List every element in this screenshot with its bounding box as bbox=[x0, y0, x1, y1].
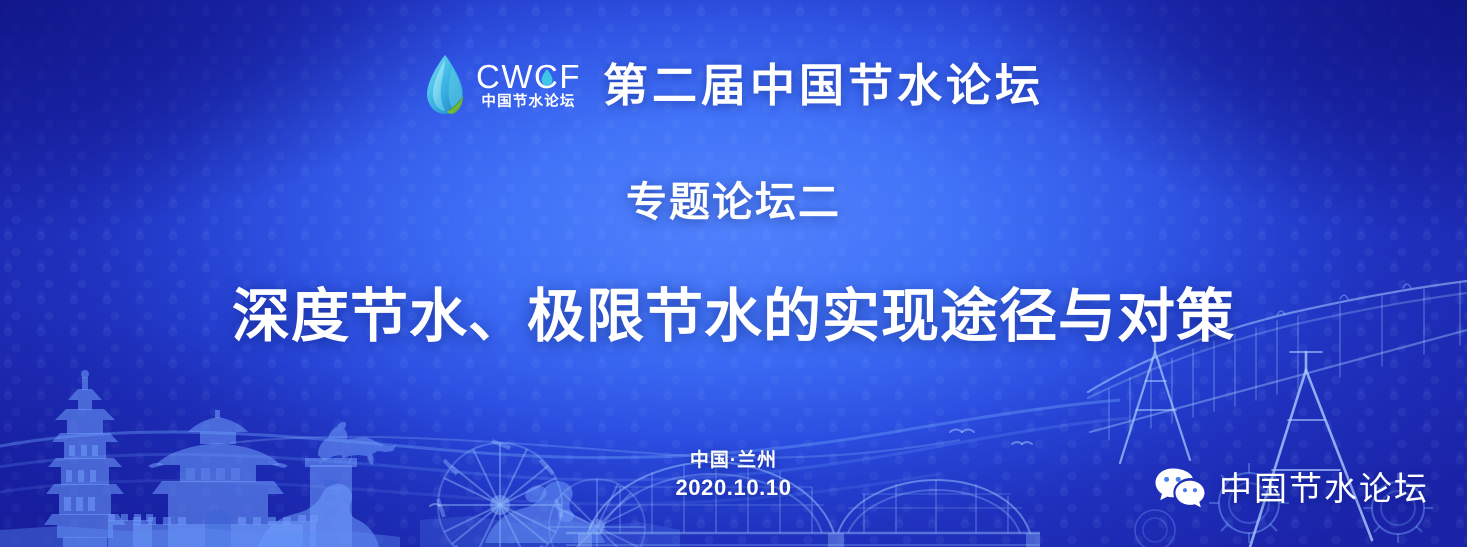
event-title: 第二届中国节水论坛 bbox=[603, 63, 1044, 108]
wechat-account-badge[interactable]: 中国节水论坛 bbox=[1154, 467, 1429, 509]
water-drop-leaf-icon bbox=[423, 54, 467, 116]
logo-subtitle: 中国节水论坛 bbox=[481, 95, 575, 110]
forum-session-label: 专题论坛二 bbox=[0, 182, 1467, 223]
logo-letter-c: C bbox=[476, 60, 501, 93]
logo-letter-c2: C bbox=[534, 60, 559, 93]
cwcf-logo: C W C F 中国节水论坛 bbox=[423, 54, 581, 116]
wechat-icon bbox=[1154, 467, 1206, 509]
wechat-account-name: 中国节水论坛 bbox=[1219, 472, 1429, 505]
water-drop-icon bbox=[540, 69, 553, 86]
logo-acronym: C W C F bbox=[476, 60, 581, 93]
logo-letter-f: F bbox=[559, 60, 581, 93]
forum-headline: 深度节水、极限节水的实现途径与对策 bbox=[0, 288, 1467, 346]
banner-header: C W C F 中国节水论坛 第二届中国节水论坛 bbox=[0, 54, 1467, 116]
conference-banner: C W C F 中国节水论坛 第二届中国节水论坛 专题论坛二 深度节水、极限节水… bbox=[0, 0, 1467, 547]
logo-text-block: C W C F 中国节水论坛 bbox=[476, 60, 581, 110]
logo-letter-w: W bbox=[501, 60, 534, 93]
